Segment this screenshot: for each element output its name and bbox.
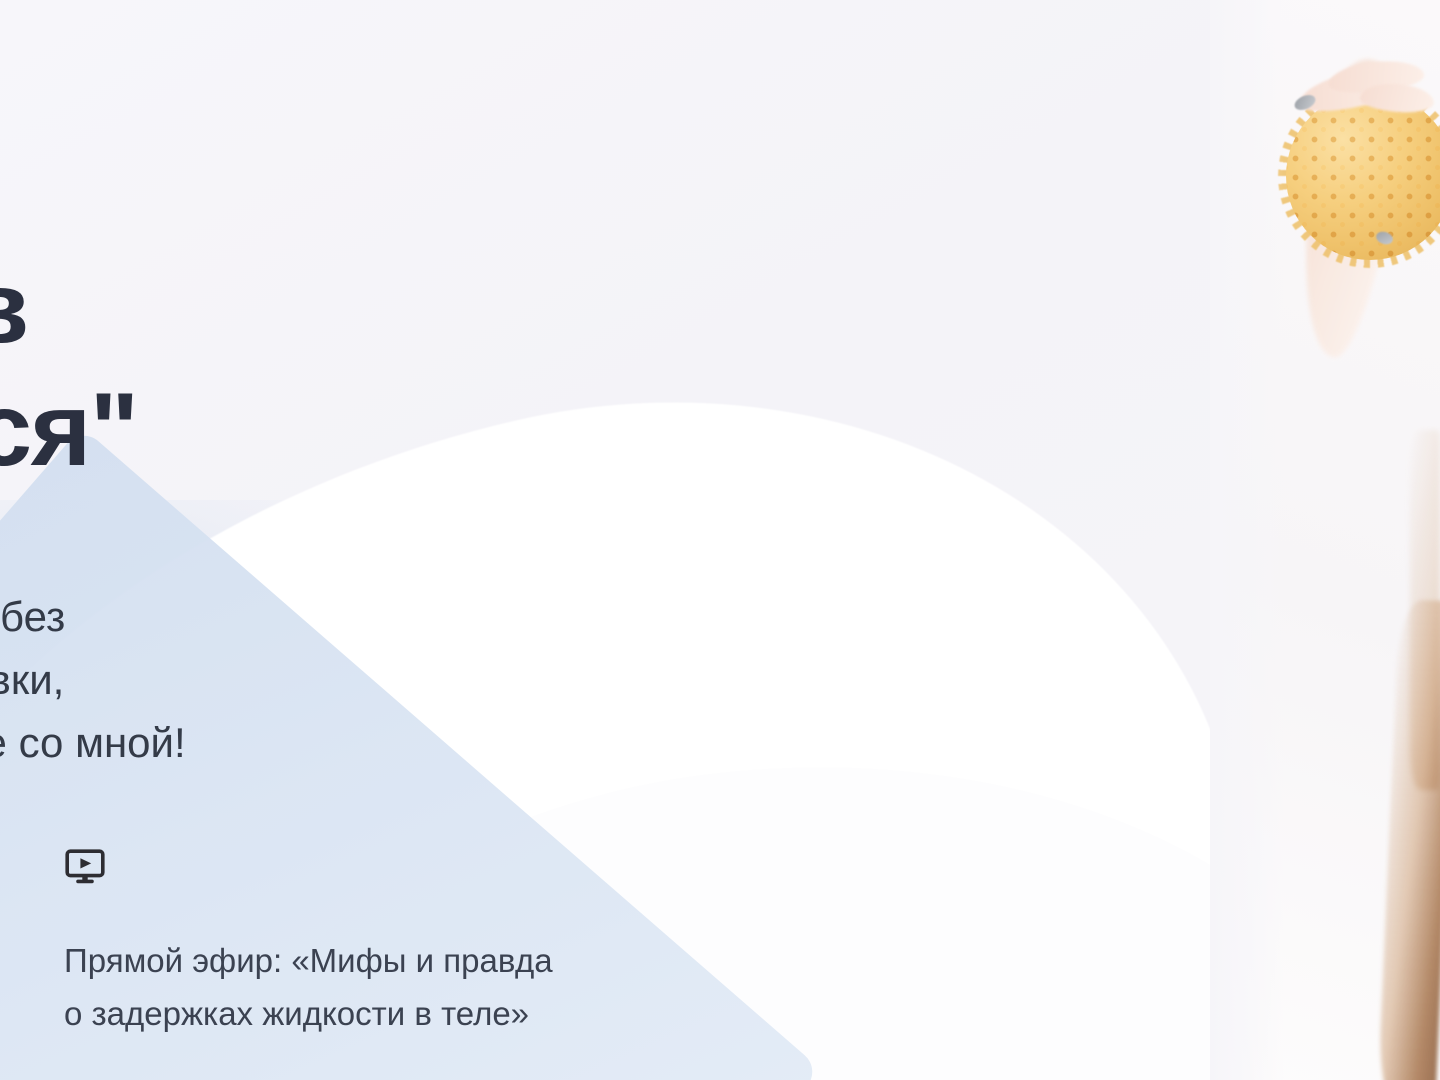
monitor-play-icon (64, 846, 106, 888)
live-broadcast-caption: Прямой эфир: «Мифы и правда о задержках … (64, 934, 704, 1041)
live-caption-line: Прямой эфир: «Мифы и правда (64, 934, 704, 987)
fingernail (1375, 230, 1395, 247)
live-caption-line: о задержках жидкости в теле» (64, 987, 704, 1040)
subcopy-line: м овалом лица без (0, 585, 705, 648)
subcopy-line: ривычки вместе со мной! (0, 711, 705, 774)
hero-subcopy: м овалом лица без ивные тренировки, ривы… (0, 585, 705, 774)
headline-line: ротив (0, 248, 752, 370)
photo-edge-fade (1210, 0, 1284, 1080)
page-title: ротив ивайся" (0, 248, 752, 491)
massage-ball-texture (1286, 92, 1440, 260)
photo-backdrop (1210, 0, 1440, 1080)
subcopy-line: ивные тренировки, (0, 648, 705, 711)
forearm (1283, 53, 1415, 363)
finger (1359, 81, 1435, 114)
massage-ball (1286, 92, 1440, 260)
finger (1327, 57, 1426, 97)
hair-strand-back (1410, 430, 1440, 790)
live-broadcast-callout: Прямой эфир: «Мифы и правда о задержках … (64, 846, 704, 1041)
hero-photo (1210, 0, 1440, 1080)
hero-content: ротив ивайся" м овалом лица без ивные тр… (0, 0, 720, 1080)
headline-line: ивайся" (0, 370, 752, 492)
hair-strand (1377, 599, 1440, 1080)
fingernail (1292, 92, 1317, 113)
massage-ball-spikes (1278, 84, 1440, 268)
hero-section: ротив ивайся" м овалом лица без ивные тр… (0, 0, 1440, 1080)
finger (1296, 64, 1405, 119)
